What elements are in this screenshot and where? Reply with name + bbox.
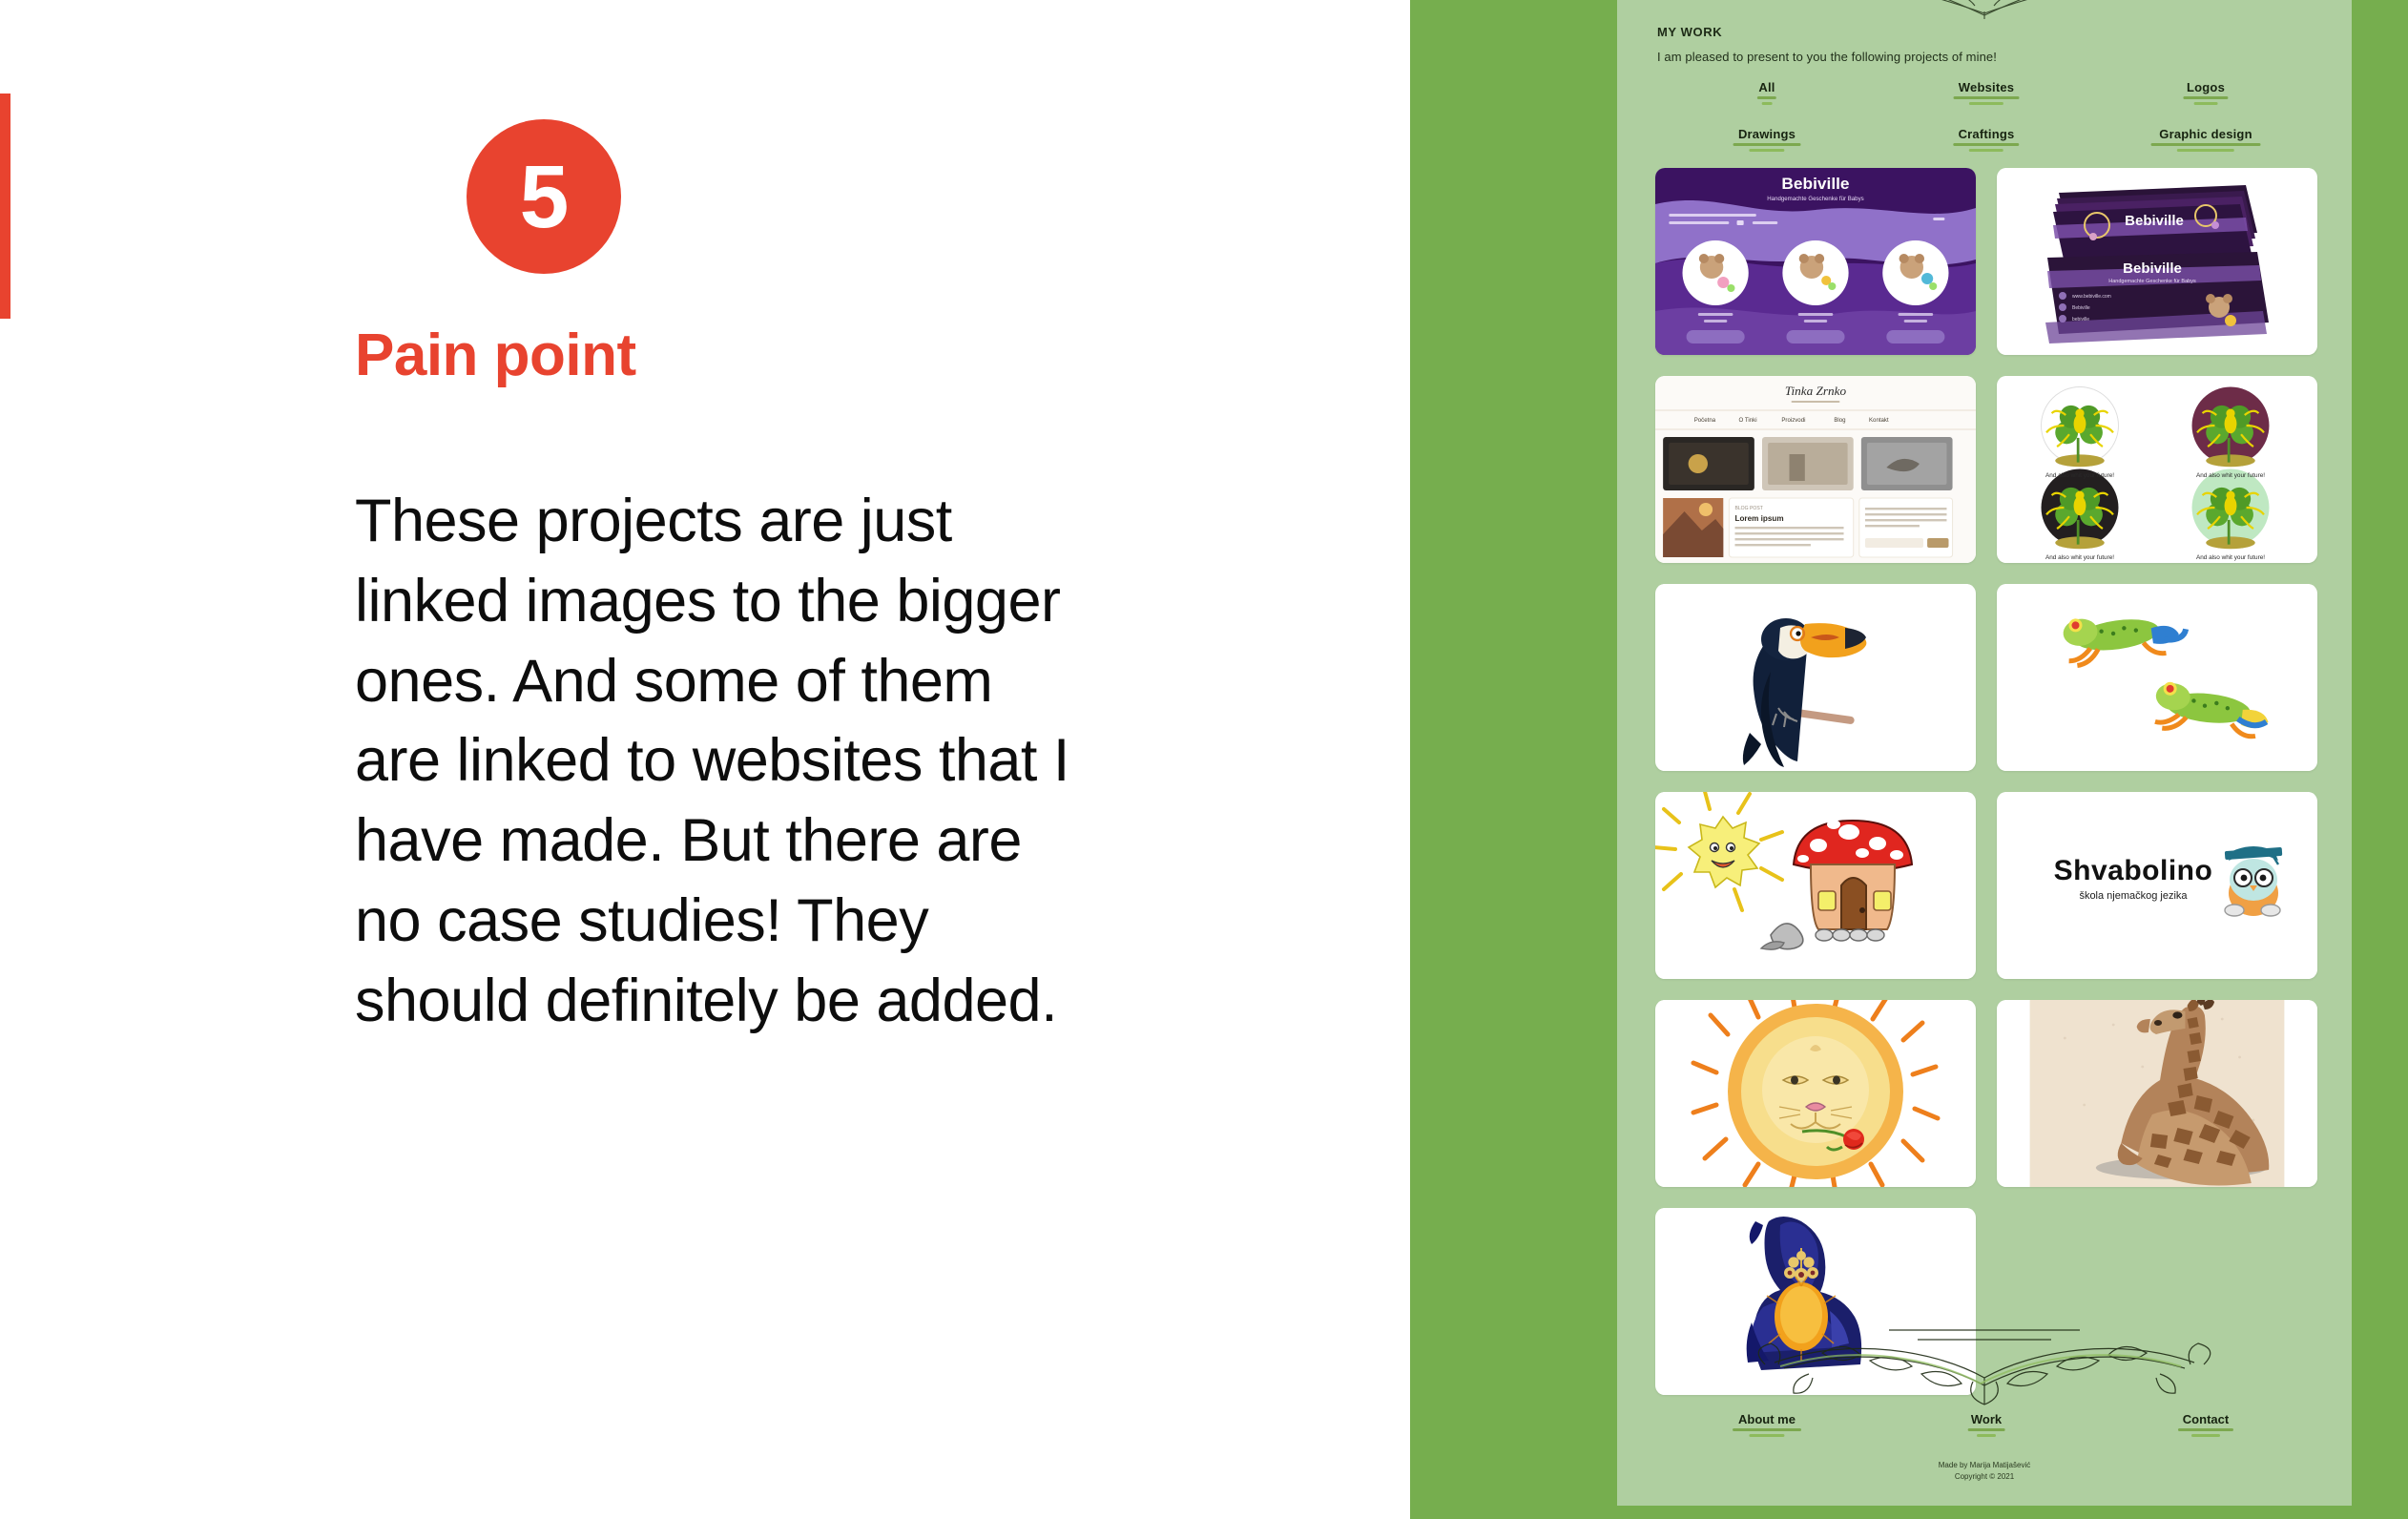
shvabolino-logo-thumbnail: Shvabolino škola njemačkog jezika (1997, 792, 2317, 979)
underline-thick-icon (2151, 143, 2261, 146)
footer-link-label: About me (1738, 1412, 1796, 1426)
project-card-bebiville-business-cards[interactable]: Bebiville (1997, 168, 2317, 355)
svg-text:Bebiville: Bebiville (1781, 174, 1849, 193)
svg-text:Bebiville: Bebiville (2072, 305, 2090, 311)
top-ornament-icon (1832, 0, 2137, 19)
svg-text:Handgemachte Geschenke für Bab: Handgemachte Geschenke für Babys (2108, 279, 2196, 284)
project-card-mushroom-house-drawing[interactable] (1655, 792, 1976, 979)
filter-label: Craftings (1959, 127, 2015, 141)
filter-logos[interactable]: Logos (2187, 80, 2225, 106)
filter-label: Drawings (1738, 127, 1796, 141)
lion-with-rose-thumbnail (1655, 1000, 1976, 1187)
filter-label: Graphic design (2159, 127, 2252, 141)
filter-label: Logos (2187, 80, 2225, 94)
filter-craftings[interactable]: Craftings (1959, 127, 2015, 153)
giraffe-drawing-thumbnail (1997, 1000, 2317, 1187)
step-number-label: 5 (520, 153, 569, 241)
filter-drawings[interactable]: Drawings (1738, 127, 1796, 153)
filter-graphic-design[interactable]: Graphic design (2159, 127, 2252, 153)
project-card-toucan-drawing[interactable] (1655, 584, 1976, 771)
svg-text:Tinka Zrnko: Tinka Zrnko (1785, 384, 1847, 398)
underline-thin-icon (1749, 1434, 1784, 1437)
footer-link-label: Work (1971, 1412, 2002, 1426)
svg-text:Proizvodi: Proizvodi (1781, 418, 1805, 424)
project-filters: All Websites Logos D (1657, 80, 2315, 153)
svg-text:škola njemačkog jezika: škola njemačkog jezika (2079, 890, 2188, 902)
project-card-bebiville-website[interactable]: Bebiville Handgemachte Geschenke für Bab… (1655, 168, 1976, 355)
projects-grid: Bebiville Handgemachte Geschenke für Bab… (1655, 168, 2317, 1395)
underline-thin-icon (1762, 102, 1773, 105)
tree-frogs-drawing-thumbnail (1997, 584, 2317, 771)
underline-thick-icon (1953, 143, 2019, 146)
underline-thin-icon (1977, 1434, 1996, 1437)
mushroom-house-drawing-thumbnail (1655, 792, 1976, 979)
svg-text:Shvabolino: Shvabolino (2054, 855, 2213, 886)
bebiville-website-thumbnail: Bebiville Handgemachte Geschenke für Bab… (1655, 168, 1976, 355)
filter-label: Websites (1959, 80, 2014, 94)
svg-text:www.bebiville.com: www.bebiville.com (2072, 294, 2111, 300)
filter-label: All (1758, 80, 1775, 94)
toucan-drawing-thumbnail (1655, 584, 1976, 771)
slide-text-column: 5 Pain point These projects are just lin… (0, 0, 1410, 1519)
footer-link-about-me[interactable]: About me (1738, 1412, 1796, 1438)
underline-thick-icon (1757, 96, 1776, 99)
svg-text:Bebiville: Bebiville (2123, 260, 2182, 277)
website-screenshot: MY WORK I am pleased to present to you t… (1617, 0, 2352, 1506)
project-card-tinka-zrnko-website[interactable]: Tinka Zrnko PočetnaO Tinki ProizvodiBlog… (1655, 376, 1976, 563)
svg-text:Handgemachte Geschenke für Bab: Handgemachte Geschenke für Babys (1767, 197, 1863, 202)
step-number-badge: 5 (467, 119, 621, 274)
footer-link-label: Contact (2183, 1412, 2229, 1426)
svg-text:bebiville: bebiville (2072, 317, 2089, 323)
business-cards-thumbnail: Bebiville (1997, 168, 2317, 355)
project-card-clover-logo-variants[interactable]: And also whit your future! And also whit… (1997, 376, 2317, 563)
underline-thick-icon (1954, 96, 2020, 99)
svg-text:Kontakt: Kontakt (1869, 418, 1889, 424)
section-title: MY WORK (1657, 25, 1722, 39)
footer-link-contact[interactable]: Contact (2183, 1412, 2229, 1438)
footer-link-work[interactable]: Work (1971, 1412, 2002, 1438)
project-card-shvabolino-logo[interactable]: Shvabolino škola njemačkog jezika (1997, 792, 2317, 979)
underline-thin-icon (1749, 149, 1784, 152)
copyright-text: Made by Marija Matijašević Copyright © 2… (1617, 1460, 2352, 1483)
body-paragraph: These projects are just linked images to… (355, 482, 1090, 1041)
underline-thin-icon (2177, 149, 2234, 152)
screenshot-panel: MY WORK I am pleased to present to you t… (1410, 0, 2408, 1519)
project-card-tree-frogs-drawing[interactable] (1997, 584, 2317, 771)
underline-thick-icon (2183, 96, 2228, 99)
underline-thick-icon (1733, 143, 1801, 146)
underline-thin-icon (2194, 102, 2218, 105)
svg-text:And also whit your future!: And also whit your future! (2045, 472, 2114, 479)
underline-thin-icon (1969, 149, 2003, 152)
footer-navigation: About me Work Contact (1657, 1412, 2315, 1438)
page-title: Pain point (355, 324, 1214, 386)
project-card-giraffe-drawing[interactable] (1997, 1000, 2317, 1187)
clover-logo-grid-thumbnail: And also whit your future! And also whit… (1997, 376, 2317, 563)
underline-thick-icon (1733, 1428, 1801, 1431)
underline-thick-icon (2178, 1428, 2233, 1431)
section-subtitle: I am pleased to present to you the follo… (1657, 50, 1997, 64)
svg-text:Blog: Blog (1834, 418, 1845, 424)
project-card-lion-with-rose-drawing[interactable] (1655, 1000, 1976, 1187)
svg-text:And also whit your future!: And also whit your future! (2045, 554, 2114, 561)
underline-thin-icon (2191, 1434, 2220, 1437)
slide-canvas: 5 Pain point These projects are just lin… (0, 0, 2408, 1519)
svg-text:And also whit your future!: And also whit your future! (2196, 554, 2265, 561)
tinka-zrnko-website-thumbnail: Tinka Zrnko PočetnaO Tinki ProizvodiBlog… (1655, 376, 1976, 563)
svg-text:Lorem ipsum: Lorem ipsum (1734, 514, 1783, 523)
filter-all[interactable]: All (1758, 80, 1775, 106)
svg-text:And also whit your future!: And also whit your future! (2196, 472, 2265, 479)
svg-text:Bebiville: Bebiville (2125, 213, 2184, 229)
footer-ornament-icon (1717, 1319, 2252, 1410)
svg-text:BLOG POST: BLOG POST (1734, 506, 1762, 511)
svg-text:Početna: Početna (1694, 418, 1716, 424)
svg-text:O Tinki: O Tinki (1739, 418, 1757, 424)
filter-websites[interactable]: Websites (1959, 80, 2014, 106)
underline-thick-icon (1968, 1428, 2005, 1431)
underline-thin-icon (1969, 102, 2003, 105)
